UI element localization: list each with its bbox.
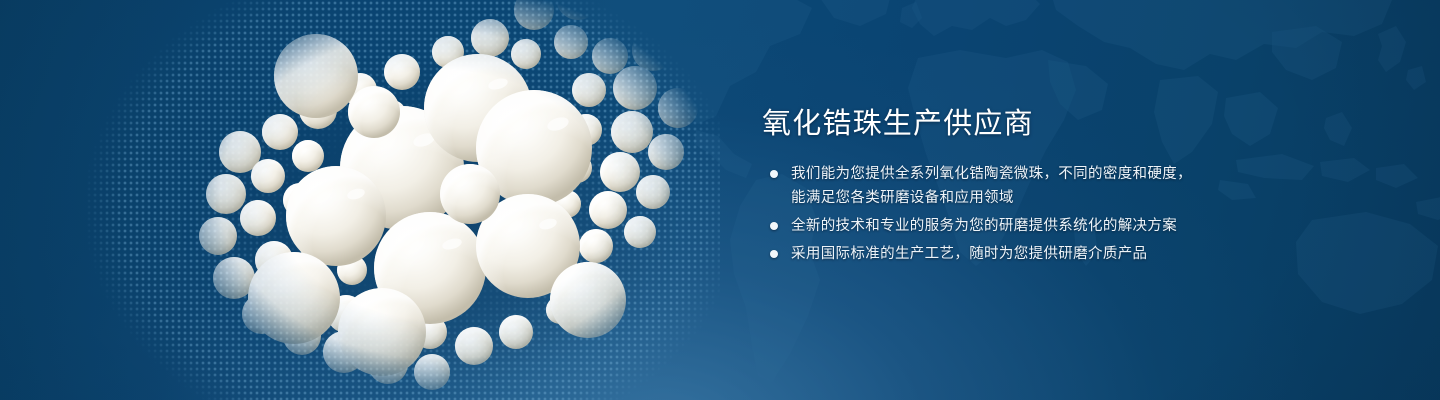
feature-bullet-text: 全新的技术和专业的服务为您的研磨提供系统化的解决方案 [791, 214, 1322, 238]
feature-bullet-line: 全新的技术和专业的服务为您的研磨提供系统化的解决方案 [791, 214, 1322, 238]
feature-bullet-line: 我们能为您提供全系列氧化锆陶瓷微珠，不同的密度和硬度， [791, 162, 1322, 186]
bullet-dot-icon [770, 250, 778, 258]
bullet-dot-icon [770, 170, 778, 178]
bullet-dot-icon [770, 222, 778, 230]
feature-bullet-text: 采用国际标准的生产工艺，随时为您提供研磨介质产品 [791, 242, 1322, 266]
promo-banner: 氧化锆珠生产供应商 我们能为您提供全系列氧化锆陶瓷微珠，不同的密度和硬度， 能满… [0, 0, 1440, 400]
feature-bullet-item: 我们能为您提供全系列氧化锆陶瓷微珠，不同的密度和硬度， 能满足您各类研磨设备和应… [762, 162, 1322, 210]
banner-headline: 氧化锆珠生产供应商 [762, 104, 1322, 144]
feature-bullet-text: 我们能为您提供全系列氧化锆陶瓷微珠，不同的密度和硬度， 能满足您各类研磨设备和应… [791, 162, 1322, 210]
feature-bullet-item: 采用国际标准的生产工艺，随时为您提供研磨介质产品 [762, 242, 1322, 266]
feature-bullet-list: 我们能为您提供全系列氧化锆陶瓷微珠，不同的密度和硬度， 能满足您各类研磨设备和应… [762, 162, 1322, 266]
feature-bullet-line: 采用国际标准的生产工艺，随时为您提供研磨介质产品 [791, 242, 1322, 266]
feature-bullet-line: 能满足您各类研磨设备和应用领域 [791, 186, 1322, 210]
banner-content: 氧化锆珠生产供应商 我们能为您提供全系列氧化锆陶瓷微珠，不同的密度和硬度， 能满… [762, 104, 1322, 266]
feature-bullet-item: 全新的技术和专业的服务为您的研磨提供系统化的解决方案 [762, 214, 1322, 238]
